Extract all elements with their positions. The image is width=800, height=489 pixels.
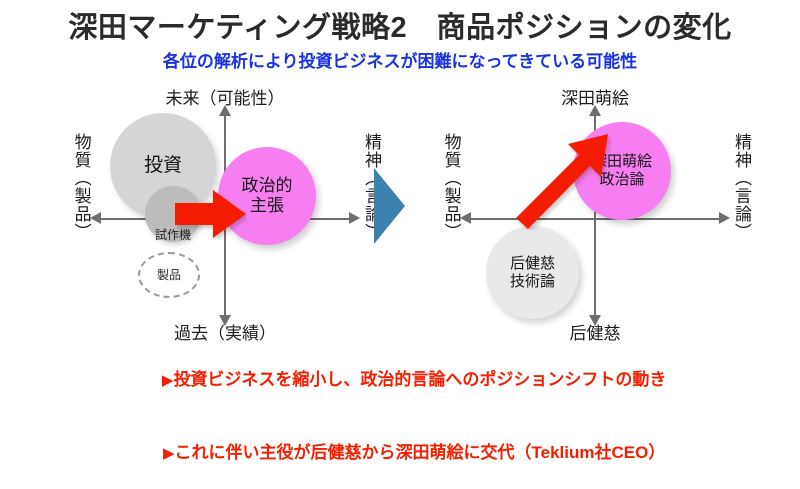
blue-transition-arrow-icon [374,168,406,244]
axis-label-west-left: 物質（製品） [72,133,90,241]
page-title: 深田マーケティング戦略2 商品ポジションの変化 [0,4,800,46]
axis-right-arrow-icon-right [719,212,730,224]
bullet-item-2: ▶これに伴い主役が后健慈から深田萌絵に交代（Teklium社CEO） [0,416,800,488]
after-position-map: 深田萌絵 后健慈 物質（製品） 精神（言論） 后健慈 技術論 深田萌絵 政治論 [430,85,760,340]
red-diagonal-arrow-icon [512,130,612,230]
axis-label-top-right: 深田萌絵 [430,84,760,109]
axis-right-arrow-icon-left [349,212,360,224]
bullet-text-2: これに伴い主役が后健慈から深田萌絵に交代（Teklium社CEO） [175,443,666,462]
bubble-tech-theory-line2: 技術論 [510,273,555,291]
axis-label-east-right: 精神（言論） [732,133,750,241]
bullet-text-1: 投資ビジネスを縮小し、政治的言論へのポジションシフトの動き [173,370,666,389]
bubble-political-claim-line1: 政治的 [242,176,293,196]
axis-label-bottom-left: 過去（実績） [60,319,390,344]
axis-label-top-left: 未来（可能性） [60,84,390,109]
bubble-tech-theory-line1: 后健慈 [510,255,555,273]
bubble-product-label: 製品 [157,268,181,282]
axis-left-arrow-icon-left [90,212,101,224]
page-subtitle: 各位の解析により投資ビジネスが困難になってきている可能性 [0,47,800,72]
bubble-political-claim-line2: 主張 [250,196,284,216]
red-right-arrow-icon [175,188,247,240]
slide-root: 深田マーケティング戦略2 商品ポジションの変化 各位の解析により投資ビジネスが困… [0,0,800,420]
bubble-product[interactable]: 製品 [138,252,200,298]
bubble-tech-theory[interactable]: 后健慈 技術論 [486,226,579,319]
axis-label-west-right: 物質（製品） [442,133,460,241]
before-position-map: 未来（可能性） 過去（実績） 物質（製品） 精神（言論） 投資 試作機 製品 政… [60,85,390,340]
bubble-invest-label: 投資 [144,155,182,177]
bullet-list: ▶投資ビジネスを縮小し、政治的言論へのポジションシフトの動き ▶これに伴い主役が… [0,344,800,489]
bullet-item-1: ▶投資ビジネスを縮小し、政治的言論へのポジションシフトの動き [0,344,800,416]
bullet-marker-icon-2: ▶ [163,445,175,462]
axis-left-arrow-icon-right [460,212,471,224]
axis-label-bottom-right: 后健慈 [430,319,760,344]
bullet-marker-icon-1: ▶ [162,372,174,389]
